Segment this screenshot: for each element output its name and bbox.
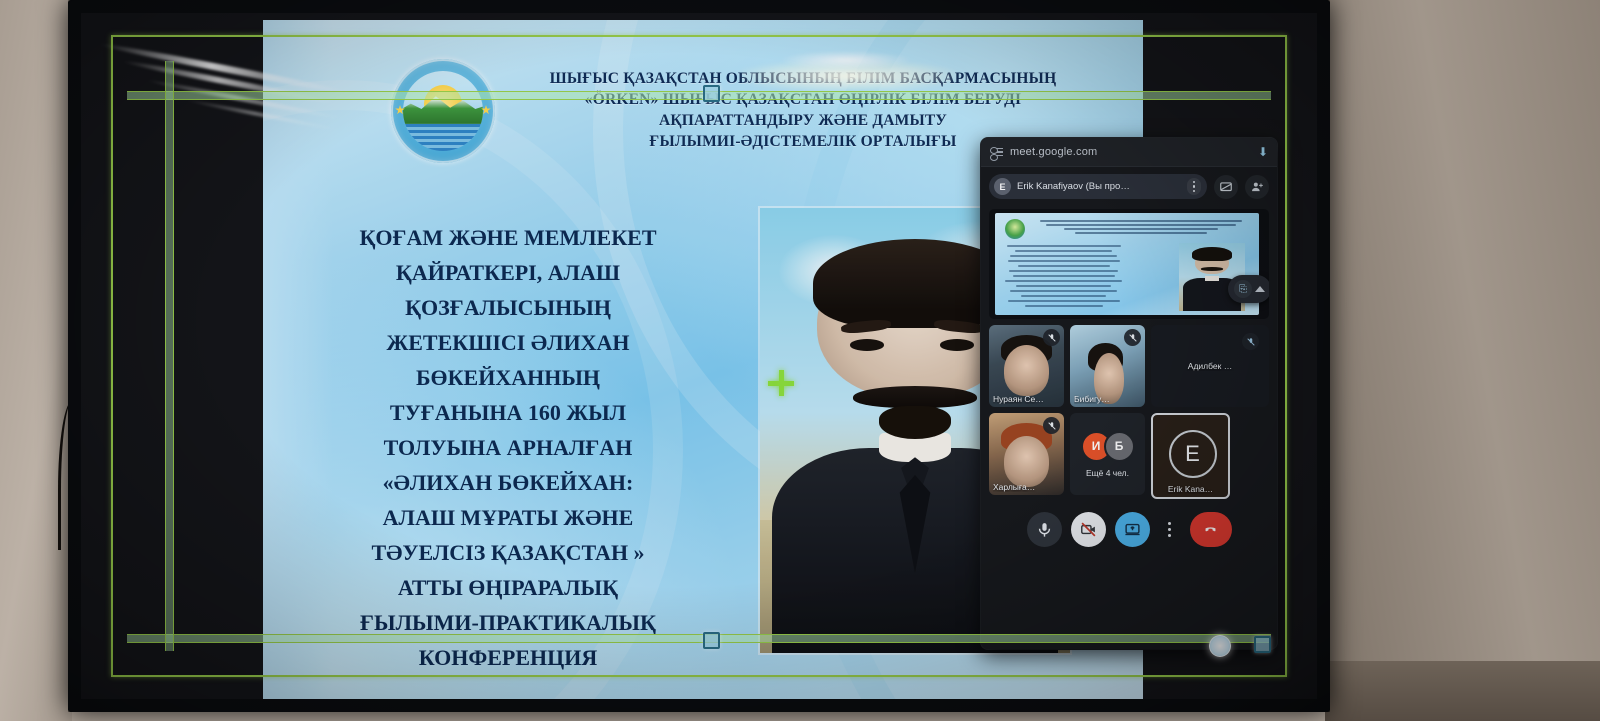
ceiling-light-reflection (781, 51, 911, 69)
shared-screen-preview[interactable]: ⎘ (989, 209, 1269, 319)
slide-title-text: ҚОҒАМ ЖӘНЕ МЕМЛЕКЕТ ҚАЙРАТКЕРІ, АЛАШ ҚОЗ… (323, 220, 693, 675)
presentation-options-icon[interactable]: ⎘ (1234, 280, 1252, 298)
wall-left (0, 0, 72, 721)
browser-url-bar[interactable]: meet.google.com ⬇ (981, 138, 1277, 167)
participant-tile[interactable]: Адилбек … (1151, 325, 1269, 407)
overflow-avatars: И Б (1081, 431, 1135, 462)
participant-tile[interactable]: Нураян Се… (989, 325, 1064, 407)
title-line: АТТЫ ӨҢІРАРАЛЫҚ (323, 570, 693, 605)
avatar: E (994, 178, 1011, 195)
camera-button[interactable] (1071, 512, 1106, 547)
title-line: ҚАЙРАТКЕРІ, АЛАШ (323, 255, 693, 290)
participant-row: Нураян Се… Бибигу… Адилб (981, 319, 1277, 407)
present-screen-icon[interactable] (1214, 175, 1238, 199)
title-line: КОНФЕРЕНЦИЯ (323, 640, 693, 675)
title-line-bold: ТӘУЕЛСІЗ ҚАЗАҚСТАН » (323, 535, 693, 570)
television-display: ШЫҒЫС ҚАЗАҚСТАН ОБЛЫСЫНЫҢ БІЛІМ БАСҚАРМА… (68, 0, 1330, 712)
wall-right (1325, 0, 1600, 721)
present-screen-button[interactable] (1115, 512, 1150, 547)
self-view-tile[interactable]: E Erik Kana… (1151, 413, 1230, 499)
title-line: БӨКЕЙХАННЫҢ (323, 360, 693, 395)
download-icon[interactable]: ⬇ (1258, 145, 1268, 159)
photo-scene: ШЫҒЫС ҚАЗАҚСТАН ОБЛЫСЫНЫҢ БІЛІМ БАСҚАРМА… (0, 0, 1600, 721)
east-kazakhstan-emblem-icon (391, 59, 495, 163)
overflow-participants-tile[interactable]: И Б Ещё 4 чел. (1070, 413, 1145, 495)
thumb-header-lines (1031, 220, 1251, 240)
chevron-up-icon[interactable] (1255, 286, 1265, 292)
presenter-chip[interactable]: E Erik Kanafiyaov (Вы про… (989, 174, 1207, 199)
participant-row: Харлыға… И Б Ещё 4 чел. E Erik Kana… (981, 407, 1277, 499)
avatar: E (1169, 430, 1217, 478)
participant-name: Харлыға… (993, 482, 1060, 492)
emblem-icon (1005, 219, 1025, 239)
participant-tile[interactable]: Харлыға… (989, 413, 1064, 495)
thumb-body-lines (1003, 245, 1124, 310)
header-line: АҚПАРАТТАНДЫРУ ЖӘНЕ ДАМЫТУ (513, 110, 1093, 131)
meet-control-bar (981, 499, 1277, 547)
title-line-bold: АЛАШ МҰРАТЫ ЖӘНЕ (323, 500, 693, 535)
title-line: ЖЕТЕКШІСІ ӘЛИХАН (323, 325, 693, 360)
header-line: «ÖRKEN» ШЫҒЫС ҚАЗАҚСТАН ӨҢІРЛІК БІЛІМ БЕ… (513, 89, 1093, 110)
participant-name: Нураян Се… (993, 394, 1060, 404)
mic-off-icon (1242, 333, 1259, 350)
title-line: ҚОҒАМ ЖӘНЕ МЕМЛЕКЕТ (323, 220, 693, 255)
avatar: Б (1104, 431, 1135, 462)
presenter-name: Erik Kanafiyaov (Вы про… (1017, 181, 1181, 192)
title-line-bold: «ӘЛИХАН БӨКЕЙХАН: (323, 465, 693, 500)
site-settings-icon[interactable] (990, 146, 1003, 159)
tv-screen: ШЫҒЫС ҚАЗАҚСТАН ОБЛЫСЫНЫҢ БІЛІМ БАСҚАРМА… (81, 13, 1317, 699)
kebab-menu-icon[interactable] (1187, 178, 1201, 195)
add-people-icon[interactable] (1245, 175, 1269, 199)
url-text: meet.google.com (1010, 146, 1097, 158)
mic-off-icon (1043, 329, 1060, 346)
microphone-button[interactable] (1027, 512, 1062, 547)
participant-name: Бибигу… (1074, 394, 1141, 404)
participant-name: Адилбек … (1151, 361, 1269, 371)
mic-off-icon (1124, 329, 1141, 346)
title-line: ҚОЗҒАЛЫСЫНЫҢ (323, 290, 693, 325)
title-line: ТУҒАНЫНА 160 ЖЫЛ (323, 395, 693, 430)
shared-slide-thumbnail (995, 213, 1259, 315)
mic-off-icon (1043, 417, 1060, 434)
projector-crosshair-marker (768, 370, 794, 396)
end-call-button[interactable] (1190, 512, 1232, 547)
google-meet-window[interactable]: meet.google.com ⬇ E Erik Kanafiyaov (Вы … (981, 138, 1277, 649)
meet-top-toolbar[interactable]: E Erik Kanafiyaov (Вы про… (981, 167, 1277, 207)
presentation-options-pill[interactable]: ⎘ (1228, 275, 1269, 303)
title-line: ТОЛУЫНА АРНАЛҒАН (323, 430, 693, 465)
overflow-label: Ещё 4 чел. (1086, 468, 1129, 478)
participant-name: Erik Kana… (1153, 484, 1228, 494)
wall-shadow (1325, 661, 1600, 721)
participant-tile[interactable]: Бибигу… (1070, 325, 1145, 407)
title-line: ҒЫЛЫМИ-ПРАКТИКАЛЫҚ (323, 605, 693, 640)
more-options-button[interactable] (1159, 512, 1181, 547)
